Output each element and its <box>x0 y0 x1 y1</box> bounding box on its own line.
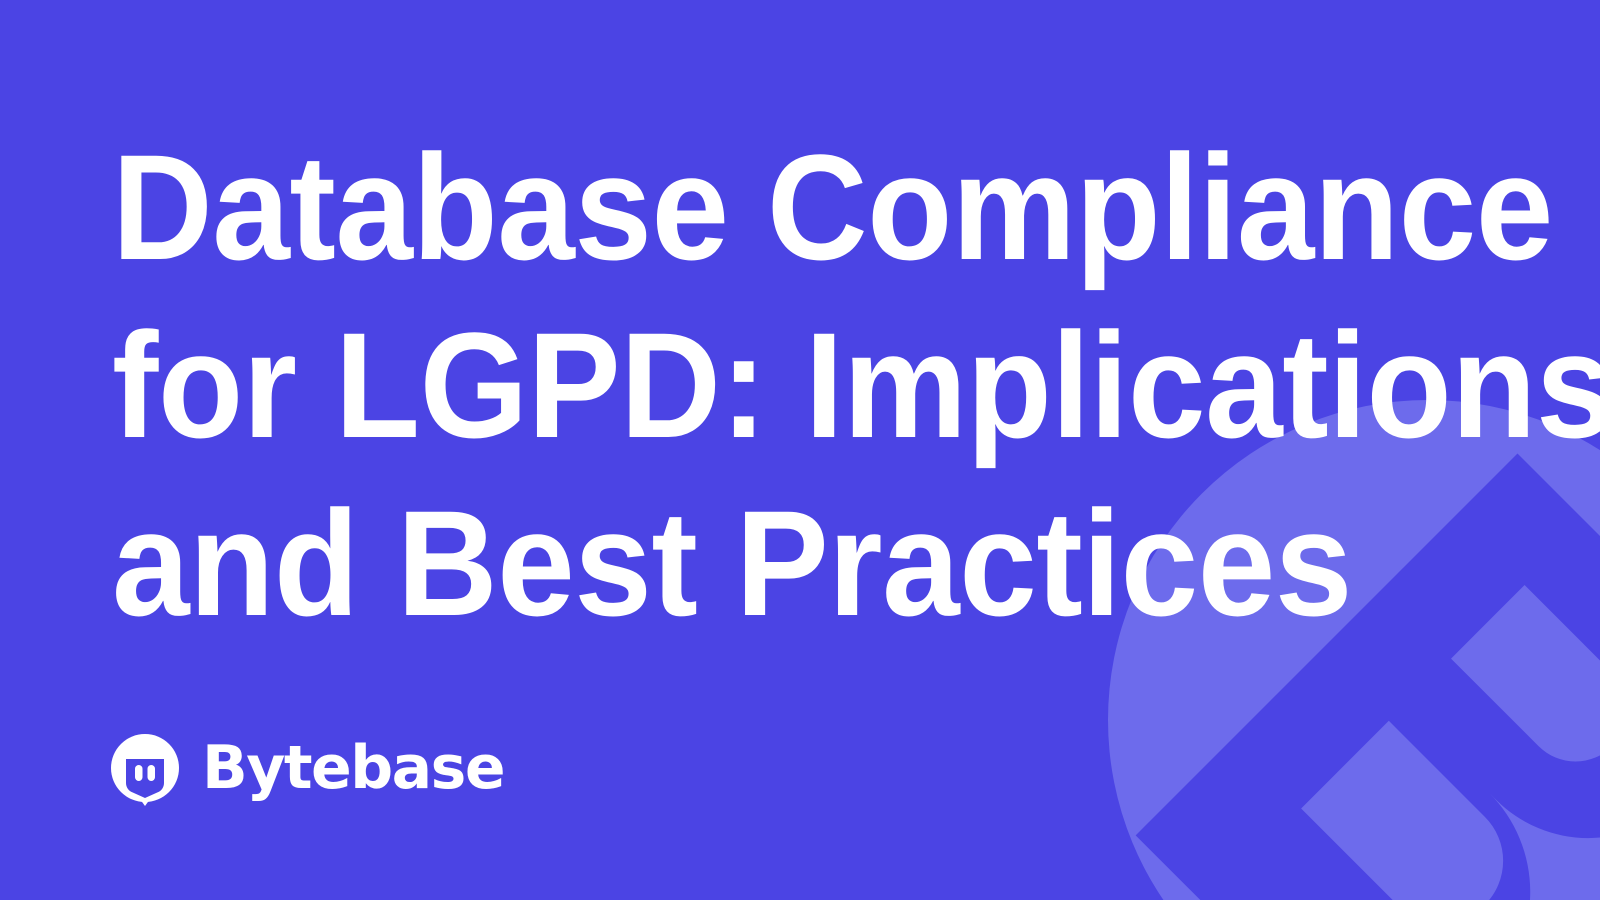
bytebase-logo-icon <box>110 734 180 806</box>
title-line-1: Database Compliance <box>112 118 1284 296</box>
title-line-2: for LGPD: Implications <box>112 296 1284 474</box>
page-title: Database Compliance for LGPD: Implicatio… <box>112 118 1372 652</box>
cover-card: Database Compliance for LGPD: Implicatio… <box>0 0 1600 900</box>
title-line-3: and Best Practices <box>112 474 1284 652</box>
bytebase-logo-lockup: Bytebase <box>110 734 504 806</box>
bytebase-wordmark: Bytebase <box>202 738 504 798</box>
